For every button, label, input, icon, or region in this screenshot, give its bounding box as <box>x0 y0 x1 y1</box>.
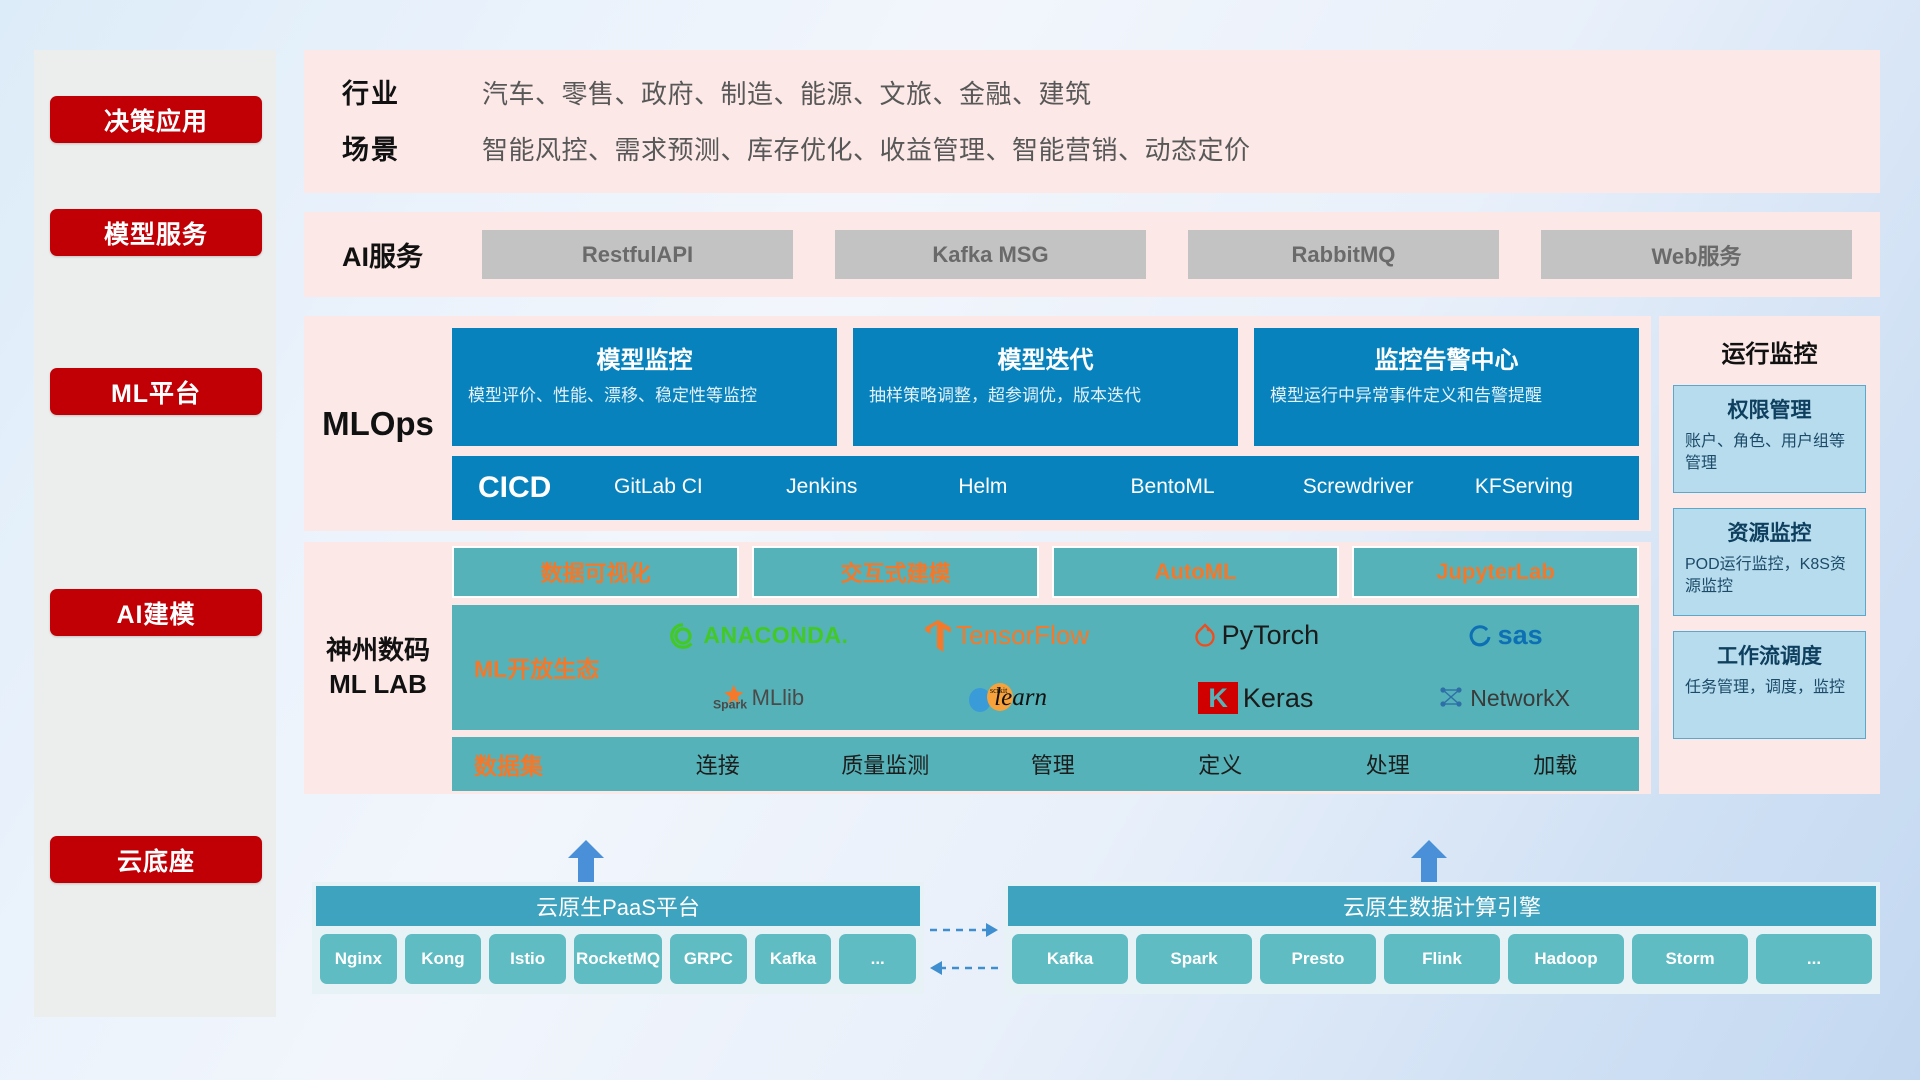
mlops-card-desc: 模型运行中异常事件定义和告警提醒 <box>1270 384 1623 409</box>
ai-service-chip-restfulapi[interactable]: RestfulAPI <box>482 230 793 279</box>
tensorflow-icon <box>925 620 951 652</box>
cloud-data-engine-chip-list: Kafka Spark Presto Flink Hadoop Storm ..… <box>1008 926 1876 990</box>
mlops-label: MLOps <box>304 405 452 443</box>
dataset-label: 数据集 <box>474 747 634 781</box>
monitor-card-workflow[interactable]: 工作流调度 任务管理，调度，监控 <box>1673 631 1866 739</box>
cloud-chip-hadoop[interactable]: Hadoop <box>1508 934 1624 984</box>
ml-lab-label: 神州数码 ML LAB <box>304 634 452 702</box>
dataset-item-manage[interactable]: 管理 <box>969 748 1137 780</box>
bidirectional-dashed-arrows-icon <box>928 914 1000 984</box>
ml-lab-tool-list: 数据可视化 交互式建模 AutoML JupyterLab <box>452 546 1639 598</box>
scikit-learn-logo: scikit learn <box>967 682 1047 714</box>
dataset-item-list: 连接 质量监测 管理 定义 处理 加载 <box>634 748 1639 780</box>
cloud-chip-nginx[interactable]: Nginx <box>320 934 397 984</box>
ml-lab-label-line1: 神州数码 <box>304 634 452 668</box>
runtime-monitor-title: 运行监控 <box>1673 334 1866 369</box>
ai-service-band: AI服务 RestfulAPI Kafka MSG RabbitMQ Web服务 <box>304 212 1880 297</box>
ml-lab-band: 神州数码 ML LAB 数据可视化 交互式建模 AutoML JupyterLa… <box>304 542 1651 794</box>
monitor-card-title: 资源监控 <box>1685 517 1854 547</box>
tensorflow-logo-text: TensorFlow <box>956 620 1089 651</box>
anaconda-logo-text: ANACONDA. <box>703 622 848 649</box>
ai-service-label: AI服务 <box>342 235 482 274</box>
runtime-monitor-panel: 运行监控 权限管理 账户、角色、用户组等管理 资源监控 POD运行监控，K8S资… <box>1659 316 1880 794</box>
scikit-learn-logo-text: learn <box>994 684 1047 712</box>
spark-mllib-logo: Spark MLlib <box>713 683 805 713</box>
pytorch-icon <box>1193 622 1217 650</box>
layer-chip-label: AI建模 <box>116 595 195 631</box>
dataset-item-process[interactable]: 处理 <box>1304 748 1472 780</box>
cicd-bar: CICD GitLab CI Jenkins Helm BentoML Scre… <box>452 456 1639 520</box>
cicd-title: CICD <box>478 471 606 505</box>
lab-tool-interactive-modeling[interactable]: 交互式建模 <box>752 546 1039 598</box>
dataset-item-load[interactable]: 加载 <box>1472 748 1640 780</box>
cloud-chip-presto[interactable]: Presto <box>1260 934 1376 984</box>
cloud-paas-title: 云原生PaaS平台 <box>316 886 920 926</box>
anaconda-logo: ANACONDA. <box>668 621 848 651</box>
mlops-card-alert-center[interactable]: 监控告警中心 模型运行中异常事件定义和告警提醒 <box>1254 328 1639 446</box>
mlops-card-list: 模型监控 模型评价、性能、漂移、稳定性等监控 模型迭代 抽样策略调整，超参调优，… <box>452 328 1639 446</box>
cloud-native-data-engine-block: 云原生数据计算引擎 Kafka Spark Presto Flink Hadoo… <box>1004 882 1880 994</box>
monitor-card-permission[interactable]: 权限管理 账户、角色、用户组等管理 <box>1673 385 1866 493</box>
layer-chip-ai-modeling[interactable]: AI建模 <box>50 589 262 636</box>
layer-chip-label: 决策应用 <box>104 102 208 138</box>
ai-service-chip-kafka-msg[interactable]: Kafka MSG <box>835 230 1146 279</box>
dataset-item-connect[interactable]: 连接 <box>634 748 802 780</box>
ml-ecosystem-logo-grid: ANACONDA. TensorFlow <box>634 605 1629 730</box>
mlops-band: MLOps 模型监控 模型评价、性能、漂移、稳定性等监控 模型迭代 抽样策略调整… <box>304 316 1651 531</box>
cloud-chip-flink[interactable]: Flink <box>1384 934 1500 984</box>
cicd-item-screwdriver[interactable]: Screwdriver <box>1303 475 1467 499</box>
ai-service-chip-web-service[interactable]: Web服务 <box>1541 230 1852 279</box>
cicd-item-kfserving[interactable]: KFServing <box>1475 475 1639 499</box>
layer-chip-decision-app[interactable]: 决策应用 <box>50 96 262 143</box>
cloud-native-paas-block: 云原生PaaS平台 Nginx Kong Istio RocketMQ GRPC… <box>312 882 924 994</box>
monitor-card-title: 工作流调度 <box>1685 640 1854 670</box>
cloud-chip-kafka[interactable]: Kafka <box>755 934 832 984</box>
spark-icon: Spark <box>713 683 747 713</box>
cloud-chip-rocketmq[interactable]: RocketMQ <box>574 934 662 984</box>
sas-logo: sas <box>1467 620 1543 651</box>
lab-tool-automl[interactable]: AutoML <box>1052 546 1339 598</box>
ai-service-chip-list: RestfulAPI Kafka MSG RabbitMQ Web服务 <box>482 230 1880 279</box>
networkx-logo-text: NetworkX <box>1470 685 1570 712</box>
sas-icon <box>1467 623 1493 649</box>
cicd-item-jenkins[interactable]: Jenkins <box>786 475 950 499</box>
cloud-chip-grpc[interactable]: GRPC <box>670 934 747 984</box>
architecture-stack: 行业 汽车、零售、政府、制造、能源、文旅、金融、建筑 场景 智能风控、需求预测、… <box>304 50 1880 1017</box>
cloud-paas-chip-list: Nginx Kong Istio RocketMQ GRPC Kafka ... <box>316 926 920 990</box>
monitor-card-desc: POD运行监控，K8S资源监控 <box>1685 554 1854 599</box>
ml-lab-content: 数据可视化 交互式建模 AutoML JupyterLab ML开放生态 ANA… <box>452 546 1651 791</box>
lab-tool-jupyterlab[interactable]: JupyterLab <box>1352 546 1639 598</box>
layer-chip-cloud-base[interactable]: 云底座 <box>50 836 262 883</box>
networkx-icon <box>1439 685 1465 711</box>
keras-icon: K <box>1198 682 1238 714</box>
cicd-item-gitlab-ci[interactable]: GitLab CI <box>614 475 778 499</box>
cloud-chip-istio[interactable]: Istio <box>489 934 566 984</box>
layer-chip-ml-platform[interactable]: ML平台 <box>50 368 262 415</box>
layer-name-column: 决策应用 模型服务 ML平台 AI建模 云底座 <box>34 50 276 1017</box>
cloud-chip-storm[interactable]: Storm <box>1632 934 1748 984</box>
scenario-value: 智能风控、需求预测、库存优化、收益管理、智能营销、动态定价 <box>482 130 1251 167</box>
layer-chip-label: 模型服务 <box>104 215 208 251</box>
mlops-card-model-monitoring[interactable]: 模型监控 模型评价、性能、漂移、稳定性等监控 <box>452 328 837 446</box>
networkx-logo: NetworkX <box>1439 685 1570 712</box>
cloud-base-zone: 云原生PaaS平台 Nginx Kong Istio RocketMQ GRPC… <box>304 840 1880 1017</box>
cicd-item-bentoml[interactable]: BentoML <box>1131 475 1295 499</box>
ai-service-chip-rabbitmq[interactable]: RabbitMQ <box>1188 230 1499 279</box>
cloud-chip-more[interactable]: ... <box>839 934 916 984</box>
ml-ecosystem-row: ML开放生态 ANACONDA. <box>452 605 1639 730</box>
pytorch-logo-text: PyTorch <box>1222 620 1320 651</box>
industry-key: 行业 <box>342 72 482 111</box>
cicd-item-helm[interactable]: Helm <box>958 475 1122 499</box>
cloud-chip-spark[interactable]: Spark <box>1136 934 1252 984</box>
industry-row: 行业 汽车、零售、政府、制造、能源、文旅、金融、建筑 <box>342 72 1880 111</box>
layer-chip-label: 云底座 <box>117 842 195 878</box>
monitor-card-title: 权限管理 <box>1685 394 1854 424</box>
scenario-key: 场景 <box>342 128 482 167</box>
mlops-card-model-iteration[interactable]: 模型迭代 抽样策略调整，超参调优，版本迭代 <box>853 328 1238 446</box>
monitor-card-desc: 任务管理，调度，监控 <box>1685 677 1854 699</box>
mlops-content: 模型监控 模型评价、性能、漂移、稳定性等监控 模型迭代 抽样策略调整，超参调优，… <box>452 318 1651 530</box>
pytorch-logo: PyTorch <box>1193 620 1320 651</box>
mlops-card-title: 模型迭代 <box>869 340 1222 375</box>
lab-tool-data-visualization[interactable]: 数据可视化 <box>452 546 739 598</box>
decision-application-band: 行业 汽车、零售、政府、制造、能源、文旅、金融、建筑 场景 智能风控、需求预测、… <box>304 50 1880 193</box>
up-arrow-icon-data-engine <box>1409 840 1449 884</box>
cloud-data-engine-title: 云原生数据计算引擎 <box>1008 886 1876 926</box>
up-arrow-icon-paas <box>566 840 606 884</box>
dataset-row: 数据集 连接 质量监测 管理 定义 处理 加载 <box>452 737 1639 791</box>
sas-logo-text: sas <box>1498 620 1543 651</box>
mlops-card-title: 模型监控 <box>468 340 821 375</box>
industry-value: 汽车、零售、政府、制造、能源、文旅、金融、建筑 <box>482 74 1092 111</box>
ml-ecosystem-label: ML开放生态 <box>474 650 634 684</box>
spark-mllib-logo-text: MLlib <box>752 685 805 711</box>
mlops-card-title: 监控告警中心 <box>1270 340 1623 375</box>
keras-logo-text: Keras <box>1243 683 1314 714</box>
anaconda-icon <box>668 621 698 651</box>
monitor-card-resource[interactable]: 资源监控 POD运行监控，K8S资源监控 <box>1673 508 1866 616</box>
layer-chip-label: ML平台 <box>111 374 201 410</box>
mlops-card-desc: 模型评价、性能、漂移、稳定性等监控 <box>468 384 821 409</box>
dataset-item-quality[interactable]: 质量监测 <box>802 748 970 780</box>
cloud-chip-kong[interactable]: Kong <box>405 934 482 984</box>
keras-logo: K Keras <box>1198 682 1313 714</box>
svg-text:Spark: Spark <box>713 698 747 712</box>
dataset-item-define[interactable]: 定义 <box>1137 748 1305 780</box>
tensorflow-logo: TensorFlow <box>925 620 1089 652</box>
cloud-chip-more-data[interactable]: ... <box>1756 934 1872 984</box>
scenario-row: 场景 智能风控、需求预测、库存优化、收益管理、智能营销、动态定价 <box>342 128 1880 167</box>
mlops-card-desc: 抽样策略调整，超参调优，版本迭代 <box>869 384 1222 409</box>
monitor-card-desc: 账户、角色、用户组等管理 <box>1685 431 1854 476</box>
layer-chip-model-service[interactable]: 模型服务 <box>50 209 262 256</box>
cloud-chip-kafka-data[interactable]: Kafka <box>1012 934 1128 984</box>
ml-lab-label-line2: ML LAB <box>304 668 452 702</box>
